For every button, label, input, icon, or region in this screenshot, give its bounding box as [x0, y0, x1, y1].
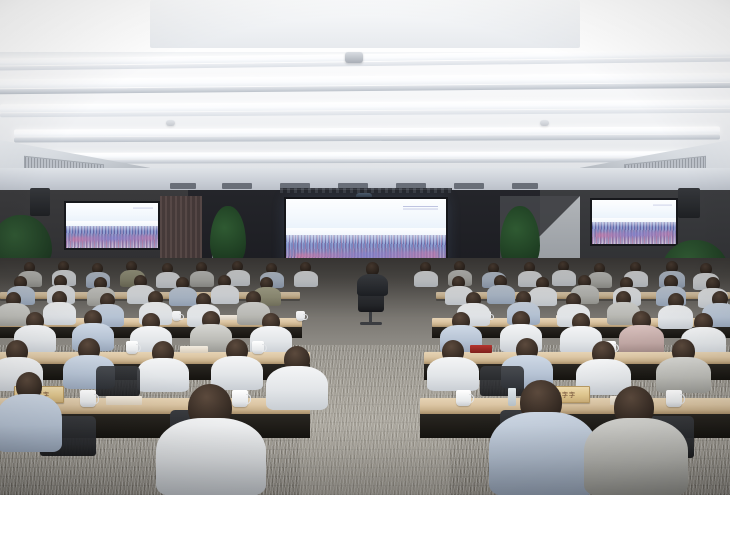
- attendee-body: [266, 366, 328, 410]
- chair-base: [360, 322, 382, 325]
- ceiling-sensor-icon: [166, 120, 175, 126]
- document-booklet: [218, 315, 238, 320]
- attendee-body: [658, 305, 693, 329]
- attendee-body: [414, 271, 438, 287]
- attendee-body: [427, 357, 479, 391]
- office-chair: [480, 366, 524, 396]
- smoke-detector-icon: [345, 52, 363, 63]
- attendee-body: [211, 356, 263, 390]
- left-side-screen[interactable]: [66, 203, 158, 248]
- office-chair: [96, 366, 140, 396]
- attendee-body: [294, 271, 318, 287]
- document-booklet: [180, 346, 208, 353]
- ceramic-mug: [172, 311, 181, 321]
- ceiling-sensor-icon: [540, 120, 549, 126]
- attendee-body: [137, 358, 189, 392]
- presenter-body: [357, 274, 388, 296]
- screen-horizon-haze: [592, 218, 676, 228]
- screen-horizon-haze: [66, 221, 158, 231]
- attendee-body-foreground: [489, 412, 597, 495]
- conference-room-photo: 字字字 字字字: [0, 0, 730, 495]
- attendee-body: [0, 394, 62, 452]
- screen-watermark-text: [403, 204, 438, 210]
- attendee-body: [487, 285, 515, 304]
- attendee-body: [211, 285, 239, 304]
- screenshot-root: 字字字 字字字: [0, 0, 730, 548]
- water-bottle: [508, 388, 516, 406]
- screen-horizon-haze: [286, 228, 446, 244]
- screen-watermark-text: [653, 203, 671, 207]
- screen-watermark-text: [133, 206, 153, 210]
- letterbox-bottom: [0, 495, 730, 548]
- attendee-body: [552, 270, 576, 286]
- attendee-body: [656, 357, 711, 393]
- ceramic-mug: [126, 341, 138, 354]
- wall-speaker-left: [30, 188, 50, 216]
- right-side-screen[interactable]: [592, 200, 676, 244]
- attendee-body: [619, 325, 664, 355]
- attendee-body: [43, 302, 76, 325]
- ceramic-mug: [232, 390, 248, 407]
- ceramic-mug: [296, 311, 305, 321]
- attendee-body-foreground: [156, 418, 266, 495]
- wall-speaker-right: [678, 188, 700, 218]
- ceramic-mug: [456, 390, 471, 406]
- red-folder: [470, 345, 492, 353]
- ceramic-mug: [666, 390, 682, 407]
- ceramic-mug: [80, 390, 96, 407]
- ceramic-mug: [252, 341, 264, 354]
- ceiling: [0, 0, 730, 196]
- ceiling-rail: [40, 158, 694, 164]
- attendee-body: [169, 287, 197, 306]
- document-booklet: [106, 396, 142, 405]
- attendee-body: [190, 271, 214, 287]
- ceiling-panel: [150, 0, 580, 48]
- attendee-body-foreground: [584, 418, 688, 495]
